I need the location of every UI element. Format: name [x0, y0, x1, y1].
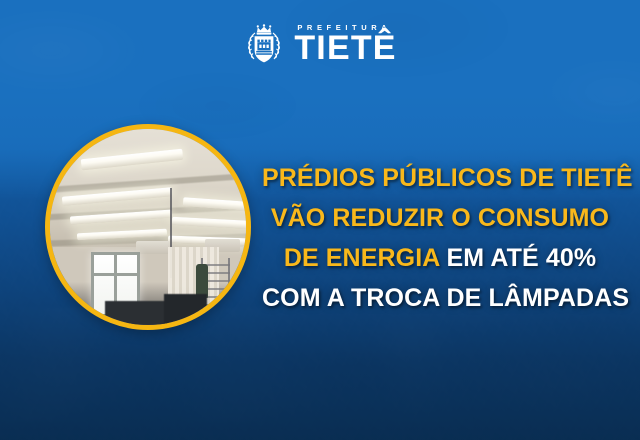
room-photo: [50, 129, 246, 325]
tiete-coat-of-arms-icon: [243, 21, 285, 67]
headline-line-4: COM A TROCA DE LÂMPADAS: [262, 278, 618, 318]
logo-city-label: TIETÊ: [294, 33, 396, 64]
headline-block: PRÉDIOS PÚBLICOS DE TIETÊ VÃO REDUZIR O …: [262, 158, 618, 318]
prefeitura-tiete-logo: PREFEITURA TIETÊ: [0, 18, 640, 70]
headline-line-1: PRÉDIOS PÚBLICOS DE TIETÊ: [262, 158, 618, 198]
photo-air-conditioner: [136, 241, 169, 255]
headline-line-3-yellow: DE ENERGIA: [284, 244, 440, 272]
circular-photo-frame: [45, 124, 251, 330]
headline-line-2: VÃO REDUZIR O CONSUMO: [262, 198, 618, 238]
photo-desk: [164, 294, 207, 325]
headline-line-3: DE ENERGIA EM ATÉ 40%: [262, 238, 618, 278]
promo-banner: PREFEITURA TIETÊ: [0, 0, 640, 440]
logo-wordmark: PREFEITURA TIETÊ: [294, 24, 396, 64]
photo-worker: [196, 264, 208, 297]
headline-line-3-white: EM ATÉ 40%: [447, 244, 597, 272]
